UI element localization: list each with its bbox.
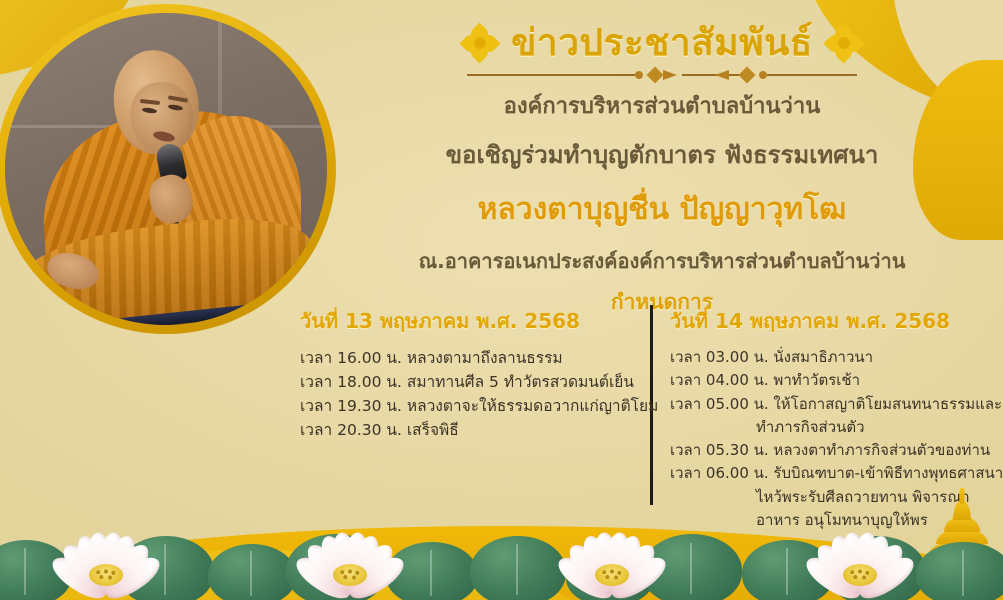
schedule-item: เวลา 03.00 น. นั่งสมาธิภาวนา	[670, 346, 990, 369]
day2-date-heading: วันที่ 14 พฤษภาคม พ.ศ. 2568	[670, 305, 990, 337]
lotus-leaf	[916, 542, 1003, 600]
schedule-item: เวลา 20.30 น. เสร็จพิธี	[300, 418, 632, 442]
invitation-text: ขอเชิญร่วมทำบุญตักบาตร ฟังธรรมเทศนา	[332, 135, 992, 174]
diamond-floret-right-icon	[827, 26, 861, 60]
schedule-item: เวลา 04.00 น. พาทำวัตรเช้า	[670, 369, 990, 392]
lotus-flower	[800, 512, 920, 598]
monk-photo	[5, 13, 327, 325]
schedule-item: เวลา 18.00 น. สมาทานศีล 5 ทำวัตรสวดมนต์เ…	[300, 370, 632, 394]
lotus-leaf	[208, 544, 296, 600]
schedule-item: เวลา 05.00 น. ให้โอกาสญาติโยมสนทนาธรรมแล…	[670, 393, 990, 416]
poster-header: ข่าวประชาสัมพันธ์ องค์การบริหารส่วนตำบลบ…	[332, 22, 992, 319]
lotus-seed-pod	[843, 564, 877, 586]
monk-portrait	[0, 4, 336, 334]
monk-name: หลวงตาบุญชื่น ปัญญาวุทโฒ	[332, 186, 992, 233]
lotus-flower-border	[0, 480, 1003, 600]
day1-date-heading: วันที่ 13 พฤษภาคม พ.ศ. 2568	[300, 305, 632, 337]
schedule-item: เวลา 05.30 น. หลวงตาทำภารกิจส่วนตัวของท่…	[670, 439, 990, 462]
lotus-flower	[552, 512, 672, 598]
page-title: ข่าวประชาสัมพันธ์	[511, 22, 813, 65]
organization-name: องค์การบริหารส่วนตำบลบ้านว่าน	[332, 88, 992, 123]
lotus-seed-pod	[89, 564, 123, 586]
lotus-flower	[46, 512, 166, 598]
title-ornament-divider	[467, 68, 857, 82]
venue-text: ณ.อาคารอเนกประสงค์องค์การบริหารส่วนตำบลบ…	[332, 245, 992, 277]
schedule-item: เวลา 16.00 น. หลวงตามาถึงลานธรรม	[300, 346, 632, 370]
schedule-item-continuation: ทำภารกิจส่วนตัว	[670, 416, 990, 439]
title-row: ข่าวประชาสัมพันธ์	[332, 22, 992, 65]
announcement-poster: ข่าวประชาสัมพันธ์ องค์การบริหารส่วนตำบลบ…	[0, 0, 1003, 600]
lotus-flower	[290, 512, 410, 598]
lotus-seed-pod	[595, 564, 629, 586]
diamond-floret-left-icon	[463, 26, 497, 60]
lotus-seed-pod	[333, 564, 367, 586]
schedule-item: เวลา 19.30 น. หลวงตาจะให้ธรรมดอวากแก่ญาต…	[300, 394, 632, 418]
